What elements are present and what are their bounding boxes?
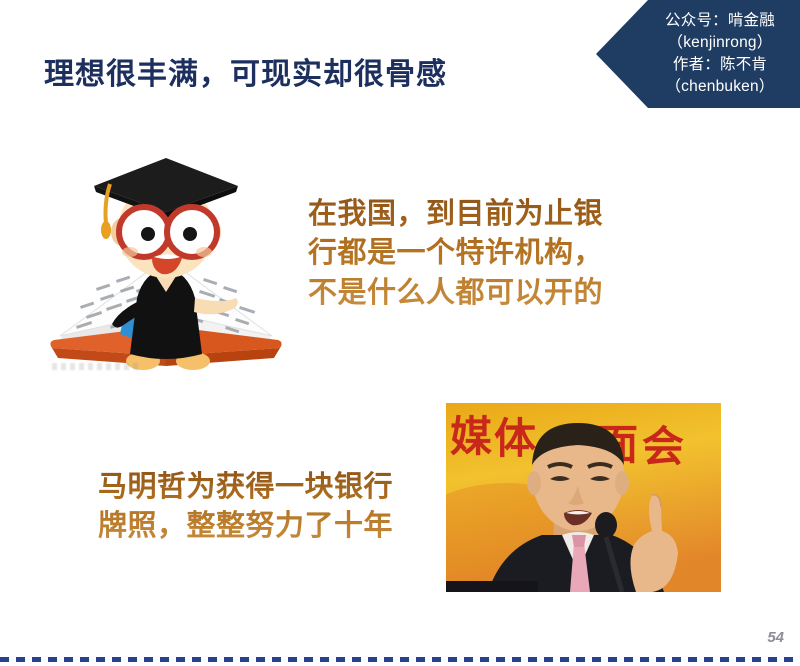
banner-line-author: 作者：陈不肯	[673, 54, 767, 76]
banner-line-author-id: （chenbuken）	[665, 76, 774, 98]
banner-line-account: 公众号：啃金融	[665, 10, 775, 32]
page-number: 54	[767, 629, 784, 646]
banner-line-account-id: （kenjinrong）	[668, 32, 773, 54]
graduate-reading-book-illustration	[40, 140, 292, 382]
body-text-top: 在我国，到目前为止银 行都是一个特许机构， 不是什么人都可以开的	[308, 195, 603, 313]
body-text-bottom: 马明哲为获得一块银行 牌照，整整努力了十年	[98, 468, 393, 547]
slide-title: 理想很丰满，可现实却很骨感	[44, 49, 447, 93]
svg-text:体: 体	[494, 415, 536, 462]
presentation-slide: 公众号：啃金融 （kenjinrong） 作者：陈不肯 （chenbuken） …	[0, 0, 800, 666]
bottom-dashed-rule	[0, 657, 800, 662]
svg-text:会: 会	[642, 423, 684, 470]
svg-text:媒: 媒	[450, 413, 493, 460]
illustration-watermark	[52, 363, 138, 370]
press-conference-photo: 媒 体 面 会	[446, 403, 721, 592]
author-banner: 公众号：啃金融 （kenjinrong） 作者：陈不肯 （chenbuken）	[596, 0, 800, 108]
